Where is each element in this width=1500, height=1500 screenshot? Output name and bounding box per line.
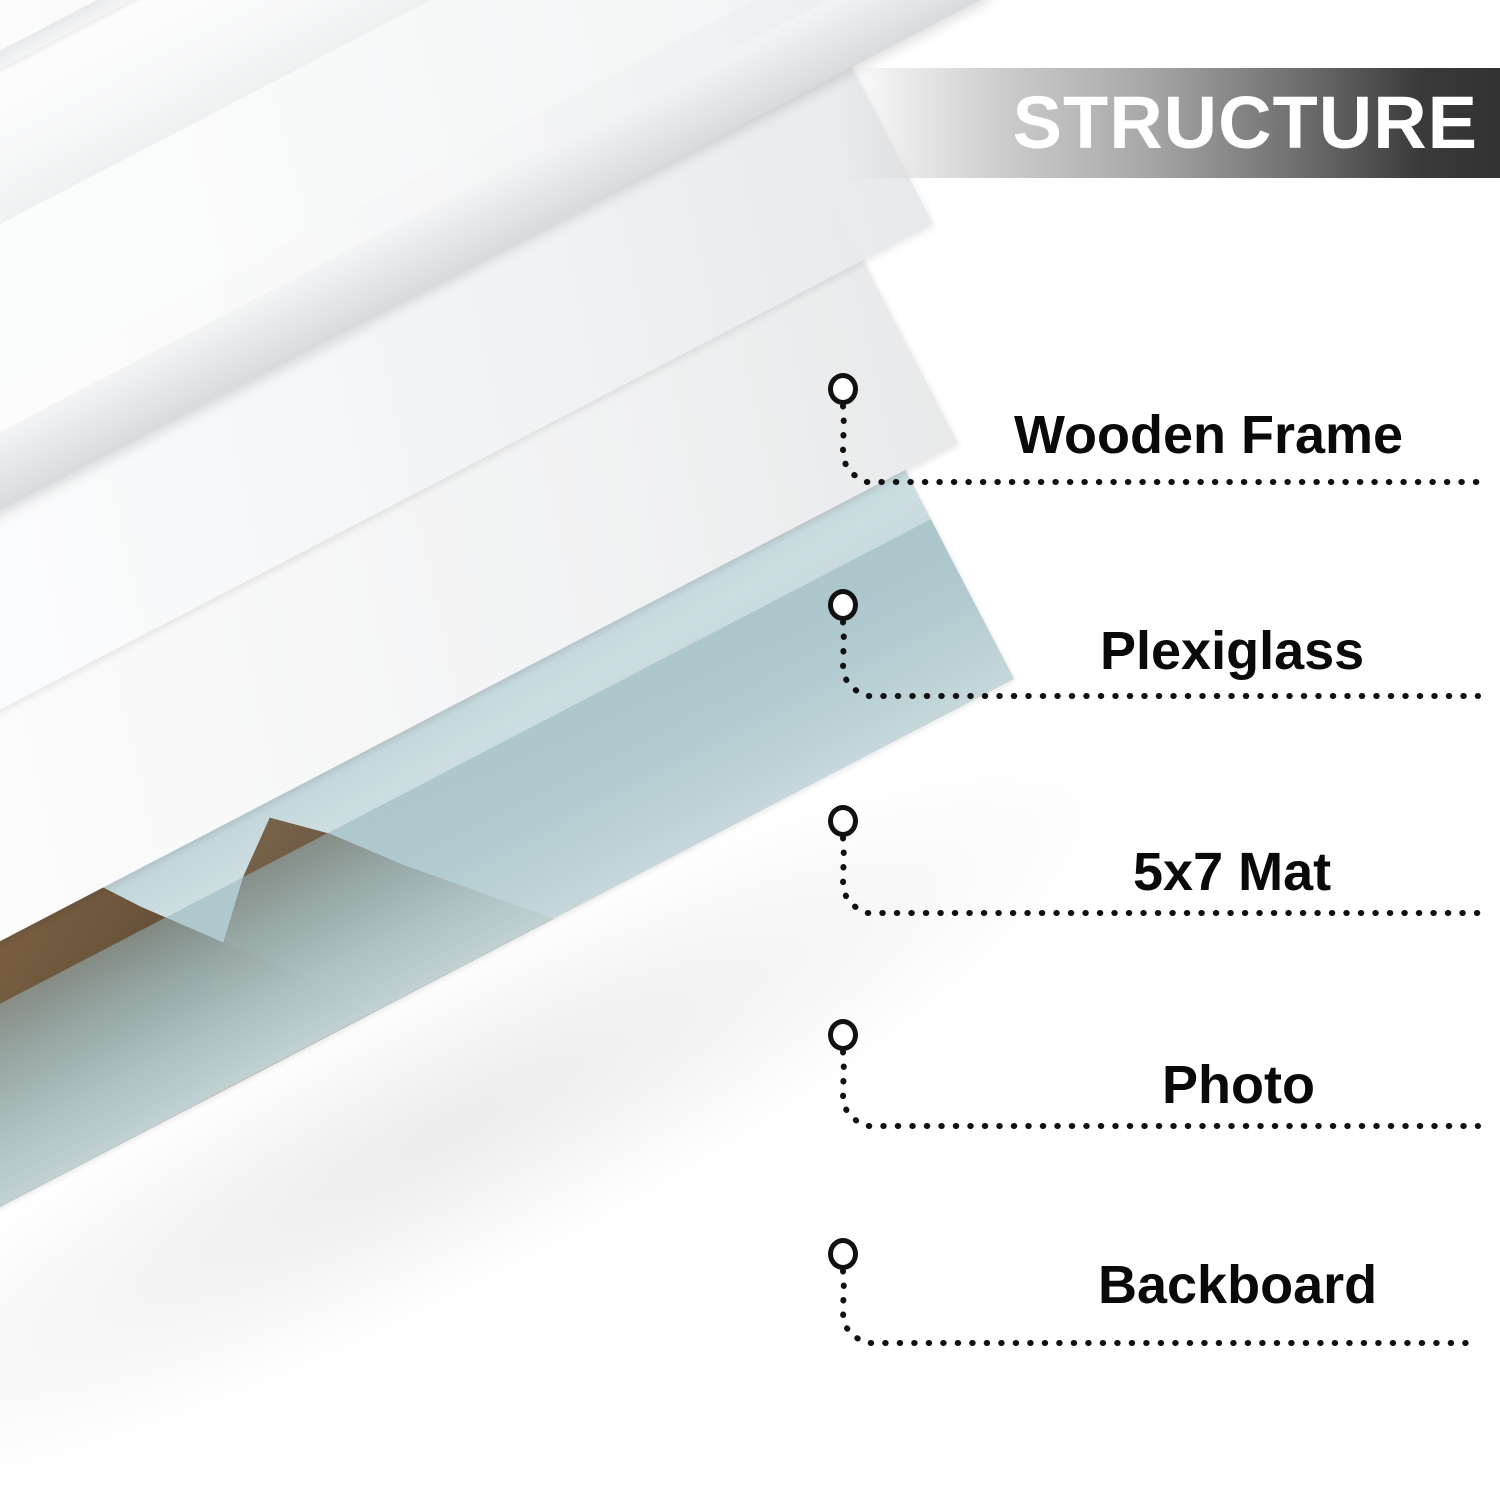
- callout-label-photo: Photo: [1162, 1058, 1315, 1112]
- structure-banner: STRUCTURE: [843, 68, 1500, 178]
- callout-label-backboard: Backboard: [1098, 1258, 1377, 1312]
- circle-marker-icon: [828, 1238, 858, 1270]
- callout-label-plexiglass: Plexiglass: [1100, 624, 1364, 678]
- banner-title: STRUCTURE: [1013, 86, 1478, 160]
- circle-marker-icon: [828, 1019, 858, 1051]
- circle-marker-icon: [828, 373, 858, 405]
- product-structure-infographic: STRUCTURE Wooden FramePlexiglass5x7 MatP…: [0, 0, 1500, 1500]
- circle-marker-icon: [828, 805, 858, 837]
- circle-marker-icon: [828, 589, 858, 621]
- callout-label-mat: 5x7 Mat: [1133, 845, 1331, 899]
- callout-label-wooden-frame: Wooden Frame: [1014, 408, 1403, 462]
